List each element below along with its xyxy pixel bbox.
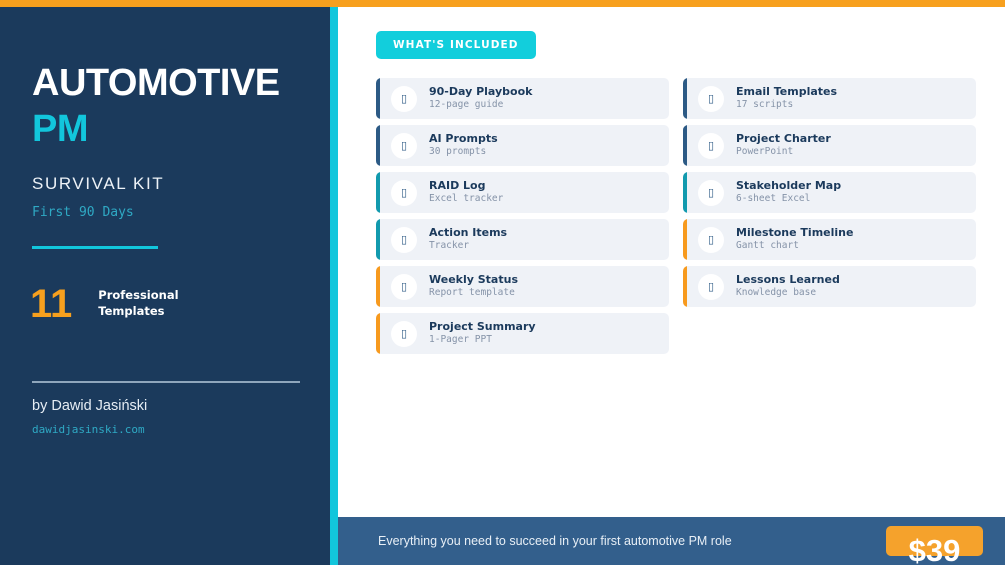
card-subtitle: 17 scripts [736, 98, 837, 112]
card-text: Action ItemsTracker [429, 226, 507, 254]
footer-bar: Everything you need to succeed in your f… [338, 517, 1005, 565]
card-text: Project Summary1-Pager PPT [429, 320, 536, 348]
card-subtitle: 12-page guide [429, 98, 532, 112]
page-subtitle: SURVIVAL KIT [32, 148, 314, 194]
card-accent-bar [683, 219, 687, 260]
card-title: Project Summary [429, 320, 536, 334]
deliverable-card[interactable]: ▯90-Day Playbook12-page guide [376, 78, 669, 119]
stat-number: 11 [30, 284, 72, 324]
card-title: Project Charter [736, 132, 831, 146]
envelope-icon: ▯ [698, 86, 724, 112]
card-text: Email Templates17 scripts [736, 85, 837, 113]
card-text: Lessons LearnedKnowledge base [736, 273, 840, 301]
stat-label: Professional Templates [98, 288, 178, 319]
card-text: 90-Day Playbook12-page guide [429, 85, 532, 113]
gray-divider [32, 381, 300, 383]
card-text: Project CharterPowerPoint [736, 132, 831, 160]
slide-icon: ▯ [698, 133, 724, 159]
deliverable-card[interactable]: ▯RAID LogExcel tracker [376, 172, 669, 213]
card-title: 90-Day Playbook [429, 85, 532, 99]
card-title: RAID Log [429, 179, 503, 193]
deliverable-card[interactable]: ▯AI Prompts30 prompts [376, 125, 669, 166]
card-accent-bar [376, 78, 380, 119]
card-subtitle: Excel tracker [429, 192, 503, 206]
card-subtitle: 30 prompts [429, 145, 498, 159]
people-icon: ▯ [698, 180, 724, 206]
card-subtitle: Tracker [429, 239, 507, 253]
deliverable-card[interactable]: ▯Lessons LearnedKnowledge base [683, 266, 976, 307]
card-accent-bar [376, 125, 380, 166]
card-accent-bar [683, 125, 687, 166]
card-subtitle: Gantt chart [736, 239, 853, 253]
title-block: AUTOMOTIVE PM SURVIVAL KIT First 90 Days [32, 64, 314, 220]
deliverables-list: ▯90-Day Playbook12-page guide▯AI Prompts… [376, 78, 976, 354]
deliverable-card[interactable]: ▯Stakeholder Map6-sheet Excel [683, 172, 976, 213]
checklist-icon: ▯ [391, 227, 417, 253]
card-accent-bar [376, 266, 380, 307]
slide-icon: ▯ [391, 321, 417, 347]
deliverable-card[interactable]: ▯Project Summary1-Pager PPT [376, 313, 669, 354]
stat-label-line-2: Templates [98, 304, 178, 320]
price-amount: $39 [886, 535, 983, 565]
deliverable-card[interactable]: ▯Milestone TimelineGantt chart [683, 219, 976, 260]
card-subtitle: Knowledge base [736, 286, 840, 300]
top-accent-stripe [0, 0, 1005, 7]
page-title-accent: PM [32, 102, 314, 148]
deliverable-card[interactable]: ▯Action ItemsTracker [376, 219, 669, 260]
card-text: Weekly StatusReport template [429, 273, 518, 301]
card-accent-bar [376, 172, 380, 213]
card-text: AI Prompts30 prompts [429, 132, 498, 160]
report-icon: ▯ [391, 274, 417, 300]
card-title: Stakeholder Map [736, 179, 841, 193]
page-tagline: First 90 Days [32, 194, 314, 220]
whats-included-badge: WHAT'S INCLUDED [376, 31, 536, 59]
card-text: RAID LogExcel tracker [429, 179, 503, 207]
deliverable-card[interactable]: ▯Weekly StatusReport template [376, 266, 669, 307]
stat-label-line-1: Professional [98, 288, 178, 304]
teal-divider [32, 246, 158, 249]
vertical-teal-rail [330, 6, 338, 565]
card-title: Lessons Learned [736, 273, 840, 287]
author-website-link[interactable]: dawidjasinski.com [32, 423, 145, 436]
card-title: Milestone Timeline [736, 226, 853, 240]
card-accent-bar [376, 313, 380, 354]
card-subtitle: Report template [429, 286, 518, 300]
card-title: Email Templates [736, 85, 837, 99]
page-title: AUTOMOTIVE [32, 64, 314, 102]
deliverable-card[interactable]: ▯Email Templates17 scripts [683, 78, 976, 119]
footer-tagline: Everything you need to succeed in your f… [378, 534, 732, 548]
content-panel: WHAT'S INCLUDED ▯90-Day Playbook12-page … [338, 6, 1005, 565]
deliverables-column-1: ▯90-Day Playbook12-page guide▯AI Prompts… [376, 78, 669, 354]
card-subtitle: 6-sheet Excel [736, 192, 841, 206]
card-text: Stakeholder Map6-sheet Excel [736, 179, 841, 207]
spreadsheet-icon: ▯ [391, 180, 417, 206]
sparkle-icon: ▯ [391, 133, 417, 159]
card-title: Weekly Status [429, 273, 518, 287]
left-hero-panel: AUTOMOTIVE PM SURVIVAL KIT First 90 Days… [0, 6, 330, 565]
card-accent-bar [683, 266, 687, 307]
poster-canvas: AUTOMOTIVE PM SURVIVAL KIT First 90 Days… [0, 0, 1005, 565]
card-text: Milestone TimelineGantt chart [736, 226, 853, 254]
card-title: Action Items [429, 226, 507, 240]
card-accent-bar [376, 219, 380, 260]
card-accent-bar [683, 172, 687, 213]
template-count-stat: 11 Professional Templates [30, 284, 179, 324]
book-icon: ▯ [698, 274, 724, 300]
deliverable-card[interactable]: ▯Project CharterPowerPoint [683, 125, 976, 166]
card-accent-bar [683, 78, 687, 119]
document-icon: ▯ [391, 86, 417, 112]
card-subtitle: 1-Pager PPT [429, 333, 536, 347]
timeline-icon: ▯ [698, 227, 724, 253]
card-subtitle: PowerPoint [736, 145, 831, 159]
deliverables-column-2: ▯Email Templates17 scripts▯Project Chart… [683, 78, 976, 354]
author-credit: by Dawid Jasiński [32, 398, 147, 414]
card-title: AI Prompts [429, 132, 498, 146]
